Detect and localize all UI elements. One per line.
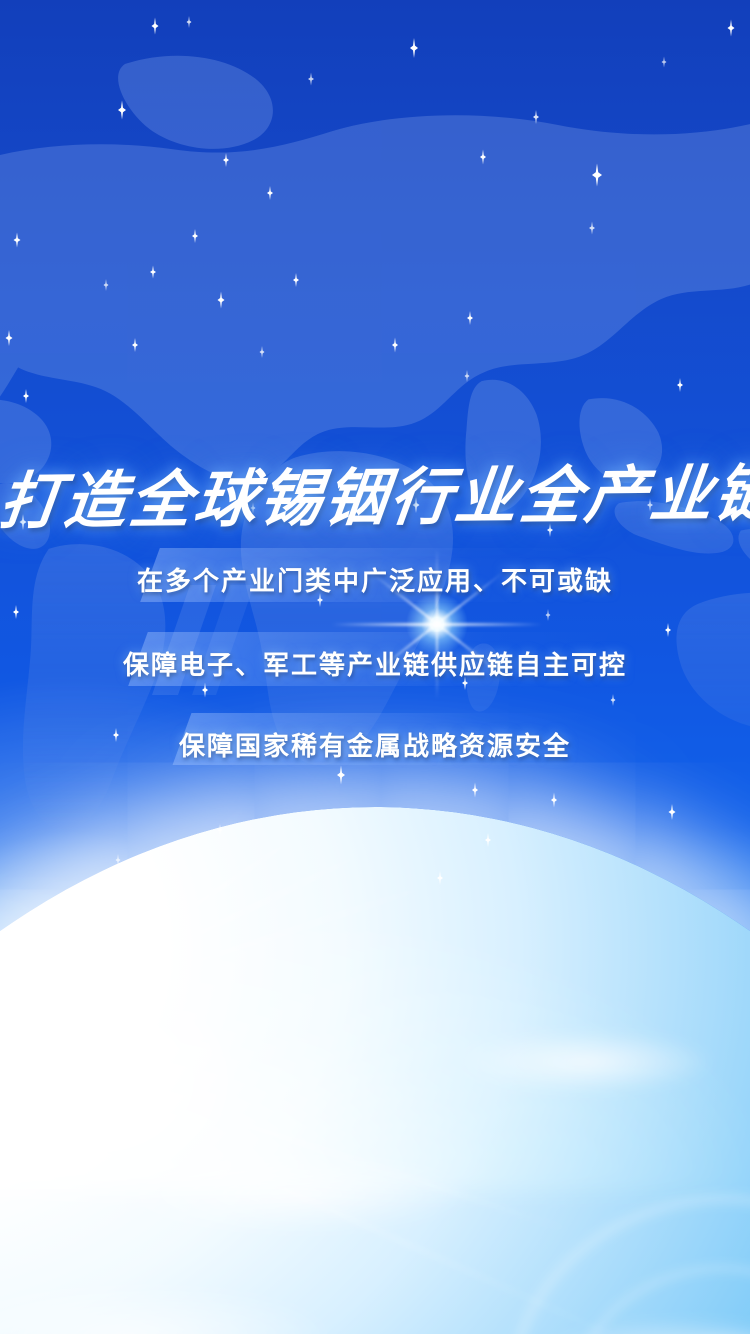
poster-text-content: 打造全球锡铟行业全产业链链主 在多个产业门类中广泛应用、不可或缺 保障电子、军工…: [0, 0, 750, 1334]
poster-canvas: 打造全球锡铟行业全产业链链主 在多个产业门类中广泛应用、不可或缺 保障电子、军工…: [0, 0, 750, 1334]
poster-subtitle-3: 保障国家稀有金属战略资源安全: [0, 726, 750, 763]
poster-subtitle-1: 在多个产业门类中广泛应用、不可或缺: [0, 561, 750, 598]
poster-subtitle-2: 保障电子、军工等产业链供应链自主可控: [0, 645, 750, 682]
poster-headline: 打造全球锡铟行业全产业链链主: [0, 456, 750, 540]
